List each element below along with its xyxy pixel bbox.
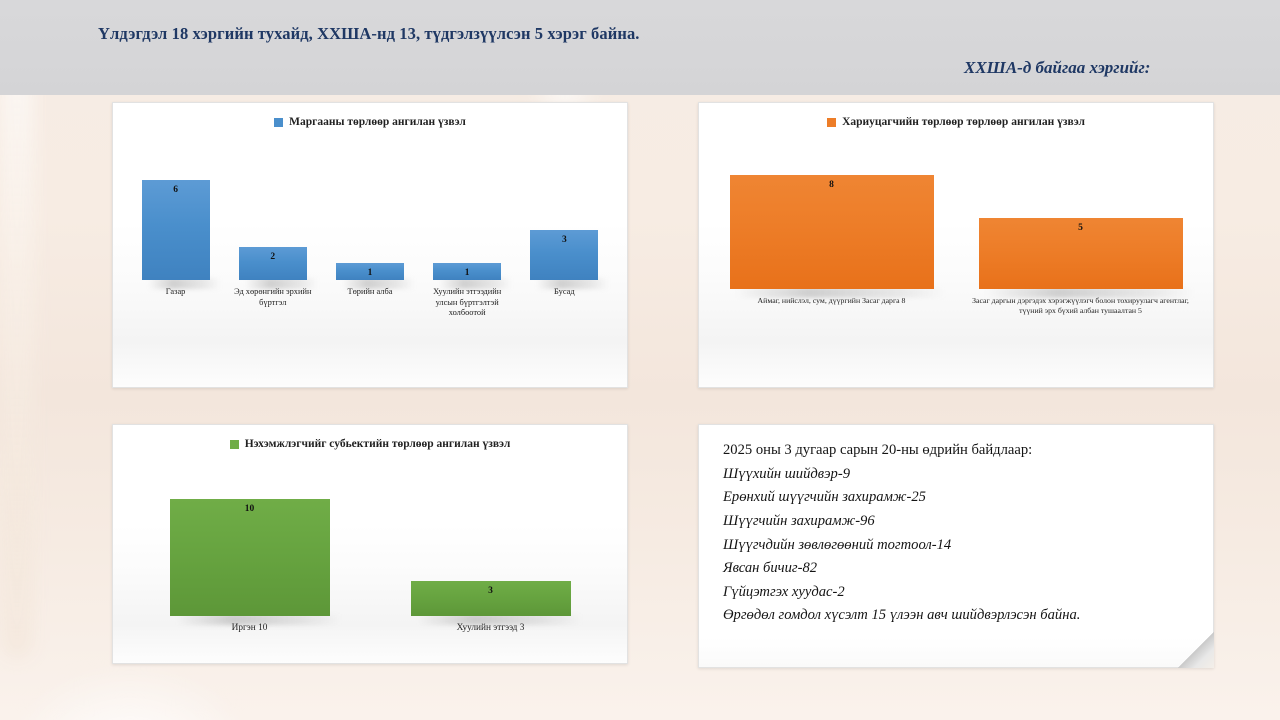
bar-group: 3Хуулийн этгээд 3	[386, 581, 596, 645]
legend-swatch-orange-icon	[827, 118, 836, 127]
category-label: Хуулийн этгээд 3	[457, 623, 525, 645]
bar-value-label: 6	[173, 185, 178, 195]
bar-value-label: 8	[829, 180, 834, 190]
page-fold-cut-icon	[1178, 632, 1214, 668]
bar-group: 3Бусад	[518, 230, 610, 343]
category-label: Эд хөрөнгийн эрхийн бүртгэл	[227, 287, 319, 343]
category-label: Иргэн 10	[232, 623, 268, 645]
category-label: Газар	[166, 287, 186, 343]
bar-group: 2Эд хөрөнгийн эрхийн бүртгэл	[227, 247, 319, 343]
category-label: Төрийн алба	[347, 287, 392, 343]
bar-chart-respondent-types: Хариуцагчийн төрлөөр төрлөөр ангилан үзв…	[699, 103, 1213, 387]
bar: 3	[411, 581, 571, 616]
chart-title-text: Нэхэмжлэгчийг субьектийн төрлөөр ангилан…	[245, 438, 511, 450]
bar: 6	[142, 180, 210, 280]
chart-panel-respondent-types: Хариуцагчийн төрлөөр төрлөөр ангилан үзв…	[698, 102, 1214, 388]
legend-swatch-blue-icon	[274, 118, 283, 127]
notes-text-block: 2025 оны 3 дугаар сарын 20-ны өдрийн бай…	[699, 425, 1213, 628]
bar: 1	[433, 263, 501, 280]
page-title: Үлдэгдэл 18 хэргийн тухайд, ХХША-нд 13, …	[98, 24, 640, 44]
bar: 8	[730, 175, 934, 289]
note-line: Гүйцэтгэх хуудас-2	[723, 581, 1195, 605]
bar-value-label: 2	[270, 252, 275, 262]
legend-swatch-green-icon	[230, 440, 239, 449]
bar-value-label: 10	[245, 504, 255, 514]
bar-chart-claimant-types: Нэхэмжлэгчийг субьектийн төрлөөр ангилан…	[113, 425, 627, 663]
bar: 3	[530, 230, 598, 280]
bar-value-label: 5	[1078, 223, 1083, 233]
bar-group: 8Аймаг, нийслэл, сум, дүүргийн Засаг дар…	[712, 175, 952, 344]
bar-chart-dispute-types: Маргааны төрлөөр ангилан үзвэл 6Газар2Эд…	[113, 103, 627, 387]
bar-group: 1Хуулийн этгээдийн улсын бүртгэлтэй холб…	[421, 263, 513, 343]
category-label: Аймаг, нийслэл, сум, дүүргийн Засаг дарг…	[758, 296, 906, 344]
bar-value-label: 3	[488, 586, 493, 596]
note-line: Шүүгчдийн зөвлөгөөний тогтоол-14	[723, 534, 1195, 558]
bar-value-label: 3	[562, 235, 567, 245]
plot-area: 6Газар2Эд хөрөнгийн эрхийн бүртгэл1Төрий…	[113, 161, 627, 343]
note-line: 2025 оны 3 дугаар сарын 20-ны өдрийн бай…	[723, 439, 1195, 463]
chart-title-row: Маргааны төрлөөр ангилан үзвэл	[113, 103, 627, 128]
chart-panel-dispute-types: Маргааны төрлөөр ангилан үзвэл 6Газар2Эд…	[112, 102, 628, 388]
plot-area: 8Аймаг, нийслэл, сум, дүүргийн Засаг дар…	[699, 159, 1213, 344]
note-line: Ерөнхий шүүгчийн захирамж-25	[723, 486, 1195, 510]
bar-value-label: 1	[368, 268, 373, 278]
chart-title-row: Нэхэмжлэгчийг субьектийн төрлөөр ангилан…	[113, 425, 627, 450]
bar-group: 6Газар	[130, 180, 222, 343]
category-label: Хуулийн этгээдийн улсын бүртгэлтэй холбо…	[421, 287, 513, 343]
chart-title-row: Хариуцагчийн төрлөөр төрлөөр ангилан үзв…	[699, 103, 1213, 128]
category-label: Бусад	[554, 287, 575, 343]
bar: 2	[239, 247, 307, 280]
bar-group: 1Төрийн алба	[324, 263, 416, 343]
chart-title-text: Маргааны төрлөөр ангилан үзвэл	[289, 116, 466, 128]
note-line: Явсан бичиг-82	[723, 557, 1195, 581]
category-label: Засаг даргын дэргэдэх хэрэгжүүлэгч болон…	[961, 296, 1201, 344]
bar-value-label: 1	[465, 268, 470, 278]
note-line: Шүүхийн шийдвэр-9	[723, 463, 1195, 487]
note-line: Өргөдөл гомдол хүсэлт 15 үлээн авч шийдв…	[723, 604, 1195, 628]
bar-group: 10Иргэн 10	[145, 499, 355, 645]
header-band: Үлдэгдэл 18 хэргийн тухайд, ХХША-нд 13, …	[0, 0, 1280, 95]
note-line: Шүүгчийн захирамж-96	[723, 510, 1195, 534]
plot-area: 10Иргэн 103Хуулийн этгээд 3	[113, 485, 627, 645]
bar-group: 5Засаг даргын дэргэдэх хэрэгжүүлэгч боло…	[961, 218, 1201, 344]
bar: 5	[979, 218, 1183, 289]
chart-title-text: Хариуцагчийн төрлөөр төрлөөр ангилан үзв…	[842, 116, 1085, 128]
bar: 1	[336, 263, 404, 280]
notes-panel: 2025 оны 3 дугаар сарын 20-ны өдрийн бай…	[698, 424, 1214, 668]
page-subtitle: ХХША-д байгаа хэргийг:	[964, 58, 1150, 78]
chart-panel-claimant-types: Нэхэмжлэгчийг субьектийн төрлөөр ангилан…	[112, 424, 628, 664]
bar: 10	[170, 499, 330, 616]
